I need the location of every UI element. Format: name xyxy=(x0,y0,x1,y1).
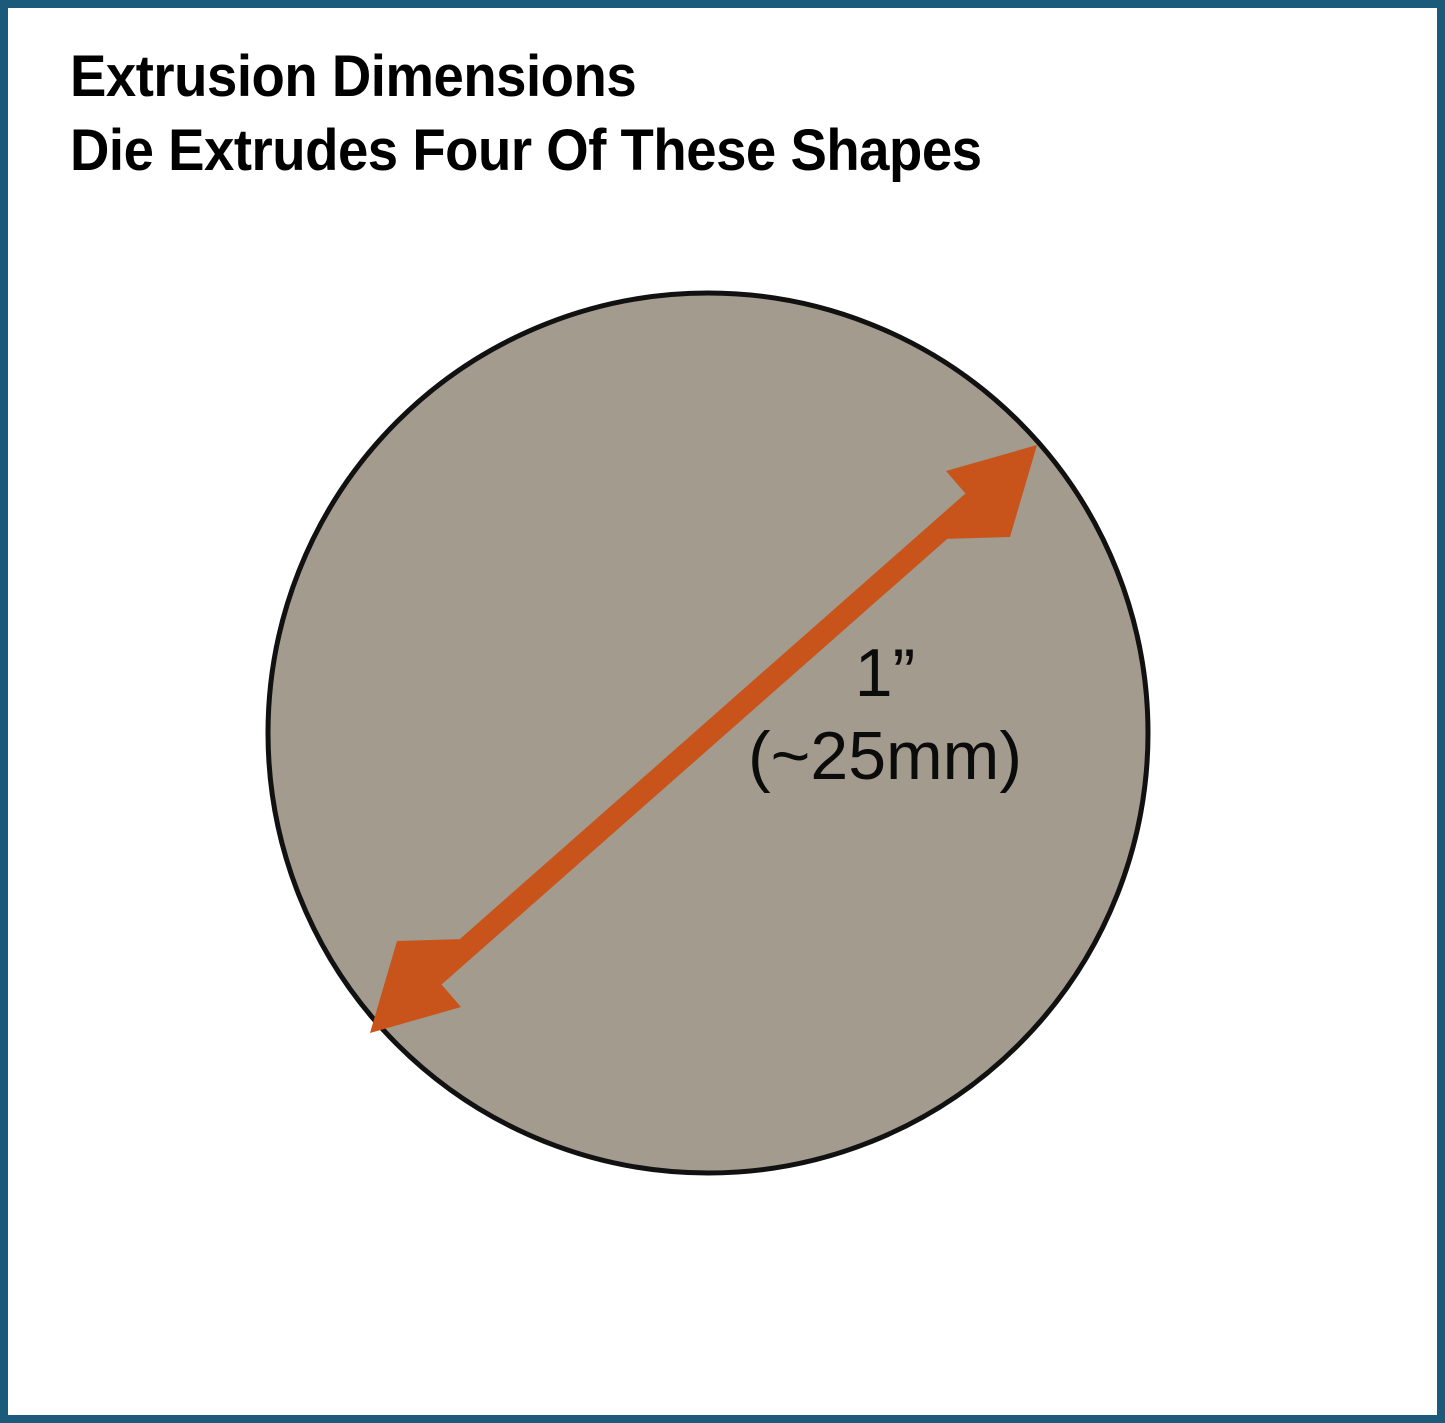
title-line-secondary: Die Extrudes Four Of These Shapes xyxy=(70,114,982,188)
title-block: Extrusion Dimensions Die Extrudes Four O… xyxy=(70,40,1040,188)
drawing-stage xyxy=(0,0,1445,1423)
diagram-page: 1” (~25mm) Extrusion Dimensions Die Extr… xyxy=(0,0,1445,1423)
title-line-primary: Extrusion Dimensions xyxy=(70,40,982,114)
